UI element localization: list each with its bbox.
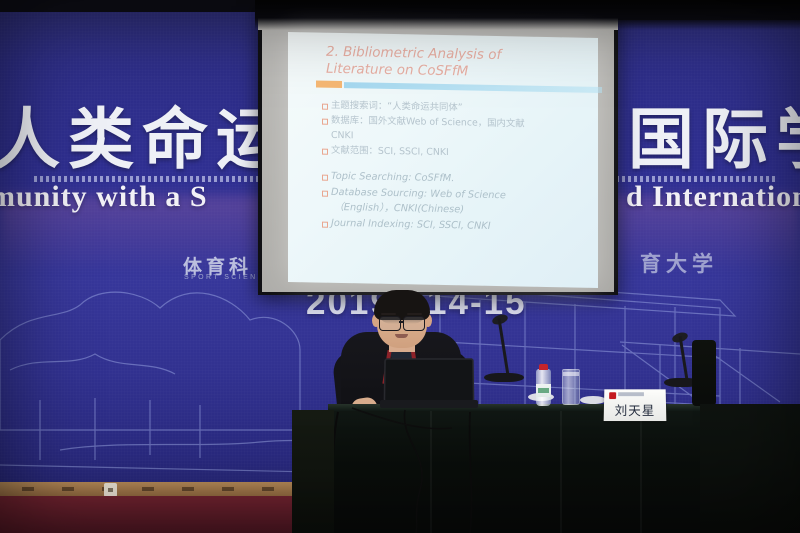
placard-name-text: 刘天星 [604,400,667,419]
conference-photo-scene: 人类命运 国际学 munity with a S d Internation 2… [0,0,800,533]
microphone-stem [679,336,688,380]
equipment-stand-right [692,340,716,406]
name-placard: 刘天星 [604,389,667,421]
bottle-label [536,384,551,397]
placard-logo-icon [609,392,616,399]
saucer [580,396,606,404]
bottle-cap [539,364,548,370]
placard-logo-text [618,392,644,396]
stage-monitor-left [292,410,334,533]
water-bottle [536,364,551,406]
laptop[interactable] [380,358,478,406]
stage-monitor-right [700,404,800,533]
laptop-screen [384,358,475,402]
cable-bundle [0,0,800,533]
microphone-base [484,373,524,382]
laptop-keyboard-base [380,400,478,408]
microphone-stem [497,318,509,376]
drinking-glass [562,369,580,405]
microphone-left [476,318,536,388]
